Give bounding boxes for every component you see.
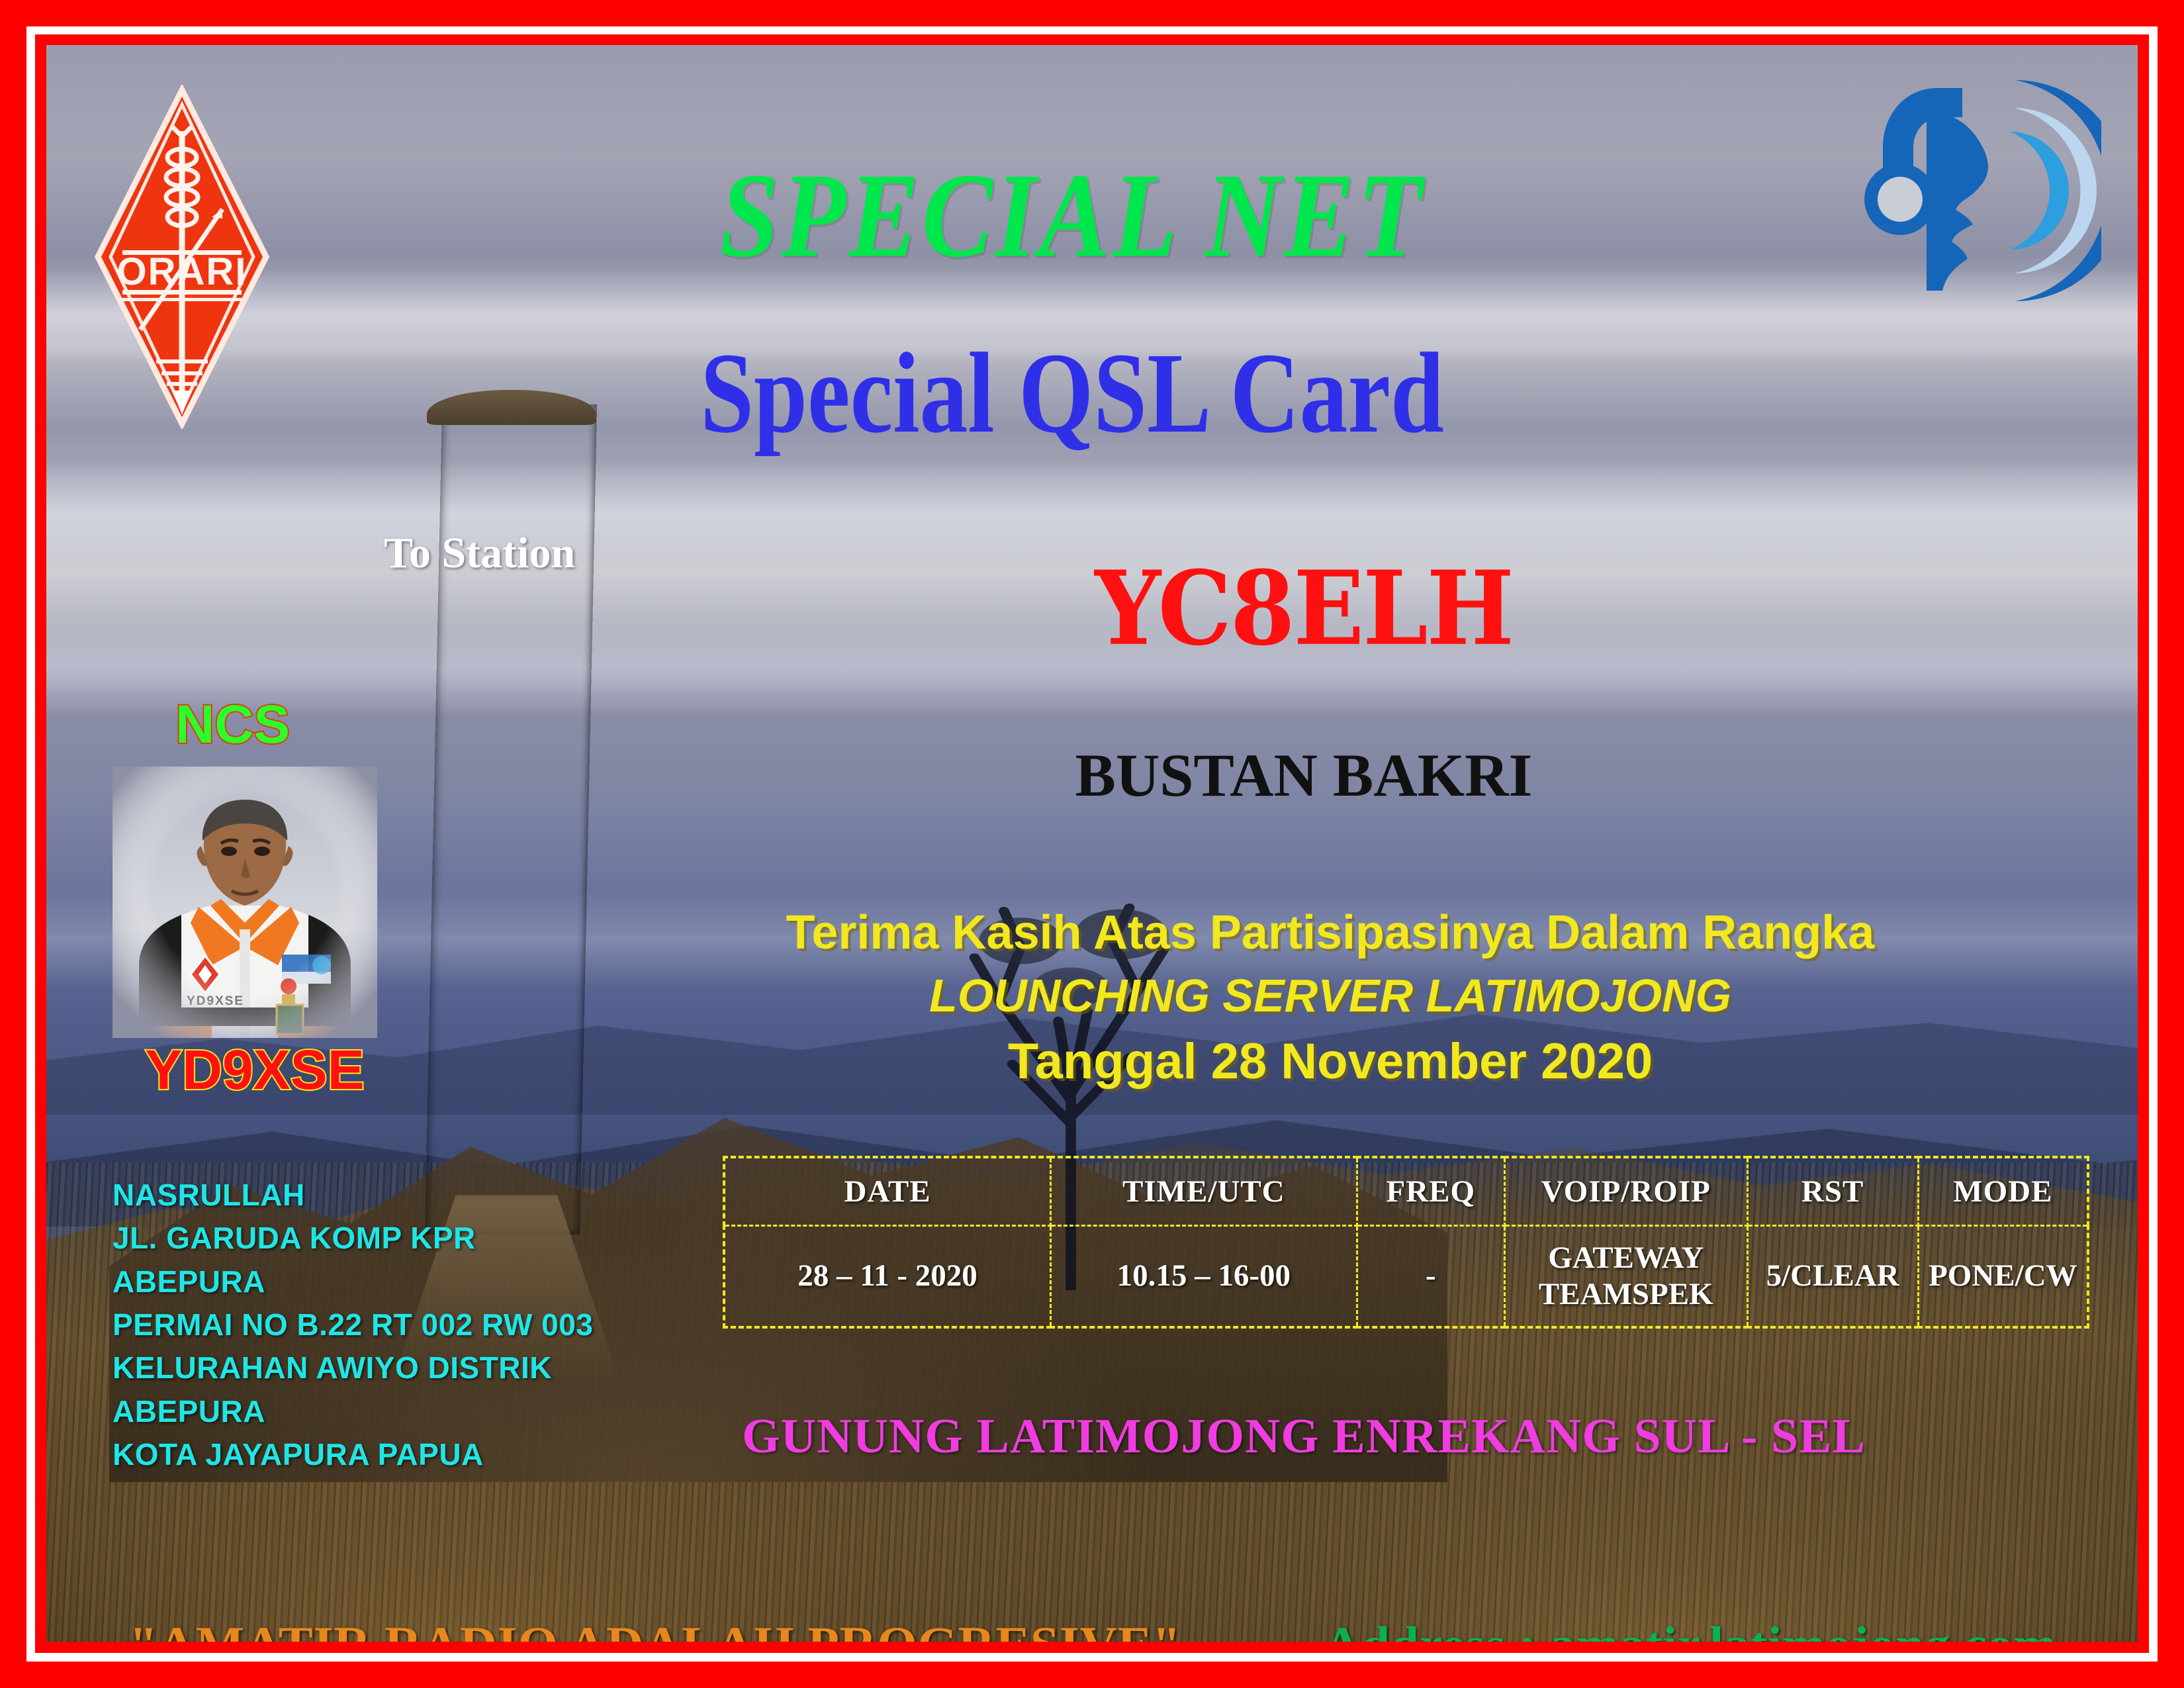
page-title-special-net: SPECIAL NET: [443, 146, 1701, 285]
footer-motto: "AMATIR RADIO ADALAH PROGRESIVE": [129, 1615, 1181, 1642]
cell-time: 10.15 – 16-00: [1051, 1226, 1357, 1328]
card-photo-background: ORARI SPECIAL NET Special QS: [46, 45, 2138, 1642]
ncs-label: NCS: [175, 694, 290, 756]
operator-portrait-photo: YD9XSE: [113, 767, 377, 1038]
address-line: JL. GARUDA KOMP KPR: [113, 1217, 655, 1260]
table-header-row: DATE TIME/UTC FREQ VOIP/ROIP RST MODE: [724, 1157, 2088, 1226]
return-address-block: NASRULLAH JL. GARUDA KOMP KPR ABEPURA PE…: [113, 1174, 655, 1476]
orari-logo: ORARI: [93, 85, 271, 429]
event-line-1: Terima Kasih Atas Partisipasinya Dalam R…: [761, 906, 1899, 960]
column-header-mode: MODE: [1918, 1157, 2088, 1226]
address-line: NASRULLAH: [113, 1174, 655, 1217]
address-line: ABEPURA: [113, 1390, 655, 1433]
location-label: GUNUNG LATIMOJONG ENREKANG SUL - SEL: [682, 1409, 1926, 1465]
cell-voip-roip: GATEWAY TEAMSPEK: [1505, 1226, 1747, 1328]
svg-text:ORARI: ORARI: [117, 250, 248, 293]
column-header-freq: FREQ: [1357, 1157, 1505, 1226]
column-header-voip-roip: VOIP/ROIP: [1505, 1157, 1747, 1226]
qso-details-table: DATE TIME/UTC FREQ VOIP/ROIP RST MODE 28…: [723, 1156, 2089, 1329]
address-line: PERMAI NO B.22 RT 002 RW 003: [113, 1303, 655, 1346]
column-header-time: TIME/UTC: [1051, 1157, 1357, 1226]
column-header-date: DATE: [724, 1157, 1051, 1226]
cell-rst: 5/CLEAR: [1747, 1226, 1918, 1328]
operator-name: BUSTAN BAKRI: [807, 740, 1800, 810]
footer-web-address: Address : amatir.latimojong.com: [1324, 1615, 2056, 1642]
address-line: KELURAHAN AWIYO DISTRIK: [113, 1346, 655, 1389]
address-line: ABEPURA: [113, 1260, 655, 1303]
page-subtitle-special-qsl-card: Special QSL Card: [463, 327, 1682, 459]
station-callsign: YC8ELH: [807, 549, 1800, 669]
event-line-2: LOUNCHING SERVER LATIMOJONG: [761, 969, 1899, 1022]
cell-mode: PONE/CW: [1918, 1226, 2088, 1328]
column-header-rst: RST: [1747, 1157, 1918, 1226]
event-line-3: Tanggal 28 November 2020: [761, 1033, 1899, 1090]
cell-voip-line-1: GATEWAY: [1506, 1240, 1746, 1276]
table-row: 28 – 11 - 2020 10.15 – 16-00 - GATEWAY T…: [724, 1226, 2088, 1328]
event-message-block: Terima Kasih Atas Partisipasinya Dalam R…: [761, 906, 1899, 1090]
headset-radio-logo: [1863, 68, 2101, 313]
to-station-label: To Station: [384, 528, 575, 579]
address-line: KOTA JAYAPURA PAPUA: [113, 1433, 655, 1476]
cell-voip-line-2: TEAMSPEK: [1506, 1276, 1746, 1313]
qsl-card: ORARI SPECIAL NET Special QS: [0, 0, 2184, 1688]
ncs-callsign: YD9XSE: [132, 1038, 377, 1102]
cell-freq: -: [1357, 1226, 1505, 1328]
cell-date: 28 – 11 - 2020: [724, 1226, 1051, 1328]
